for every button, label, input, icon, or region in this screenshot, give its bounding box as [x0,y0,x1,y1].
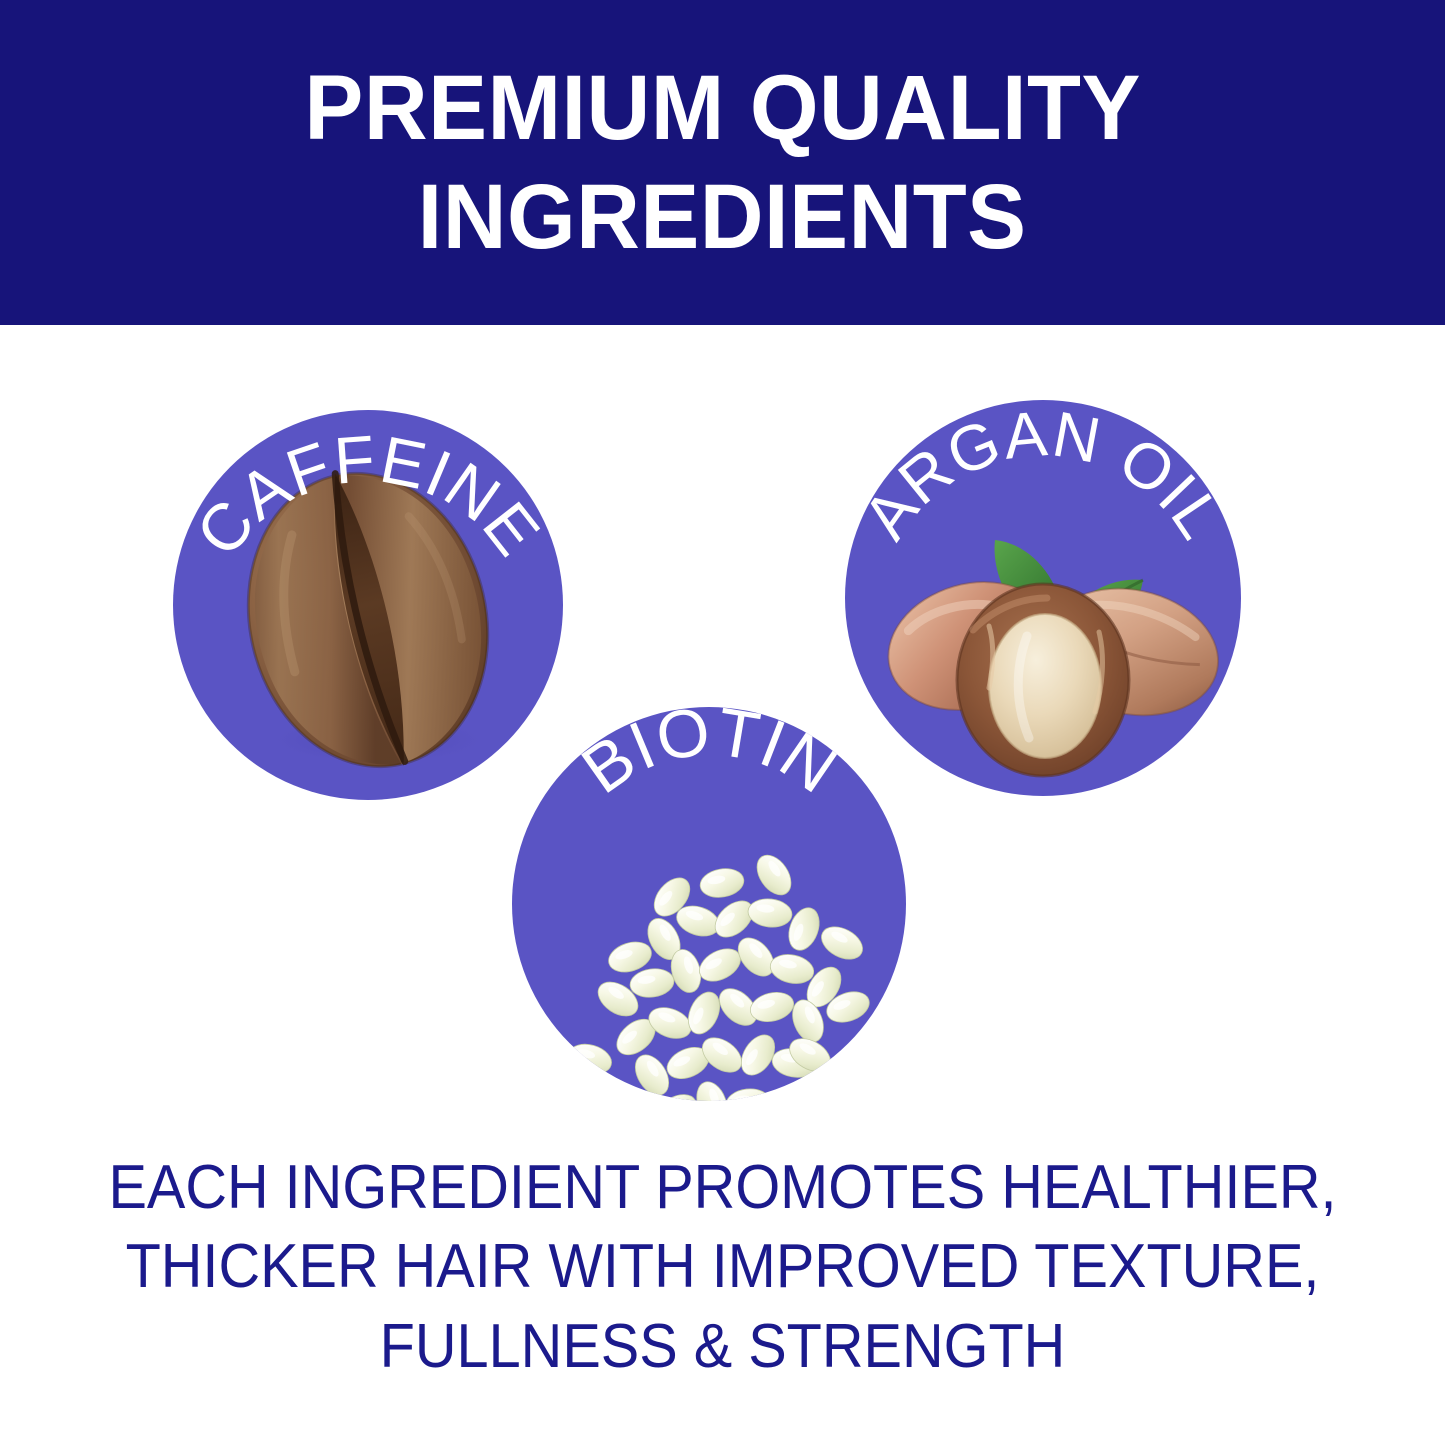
ingredient-badge-caffeine: CAFFEINE [173,410,563,800]
header-title-line-2: INGREDIENTS [418,163,1027,272]
caption-line-3: FULLNESS & STRENGTH [51,1307,1395,1386]
biotin-capsules-icon [512,707,906,1101]
caption-block: EACH INGREDIENT PROMOTES HEALTHIER, THIC… [0,1148,1445,1386]
header-banner: PREMIUM QUALITY INGREDIENTS [0,0,1445,325]
ingredient-infographic: PREMIUM QUALITY INGREDIENTS [0,0,1445,1445]
coffee-bean-icon [173,410,563,800]
caption-line-1: EACH INGREDIENT PROMOTES HEALTHIER, [51,1148,1395,1227]
caption-line-2: THICKER HAIR WITH IMPROVED TEXTURE, [51,1227,1395,1306]
ingredient-badge-biotin: BIOTIN [512,707,906,1101]
header-title-line-1: PREMIUM QUALITY [304,54,1140,163]
